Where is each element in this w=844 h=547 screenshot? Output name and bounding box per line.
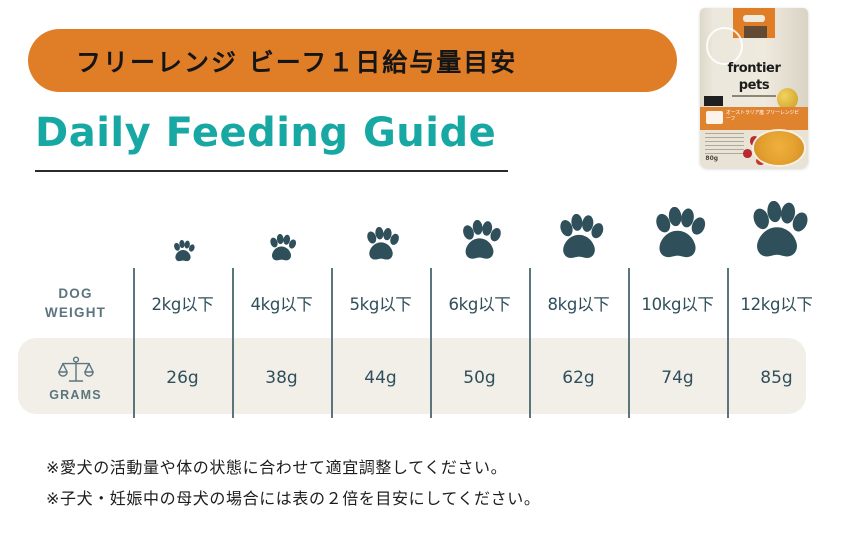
paw-cell-1 (133, 192, 232, 266)
grams-value-5: 62g (529, 340, 628, 416)
package-product-name: オーストラリア産 フリーレンジビーフ (726, 110, 804, 122)
weight-value-7: 12kg以下 (727, 266, 826, 340)
title-divider (35, 170, 508, 172)
package-ingredient-lines (705, 133, 744, 157)
footnotes: ※愛犬の活動量や体の状態に合わせて適宜調整してください。 ※子犬・妊娠中の母犬の… (46, 452, 540, 514)
table-column-4: 6kg以下 50g (430, 192, 529, 432)
dog-weight-label: DOG WEIGHT (18, 266, 133, 340)
product-package-image: frontier pets オーストラリア産 フリーレンジビーフ 80g (700, 8, 808, 168)
paw-icon (265, 234, 298, 264)
weight-value-1: 2kg以下 (133, 266, 232, 340)
package-hang-hole (743, 15, 765, 21)
scale-icon (58, 355, 94, 385)
footnote-2: ※子犬・妊娠中の母犬の場合には表の２倍を目安にしてください。 (46, 483, 540, 514)
table-column-6: 10kg以下 74g (628, 192, 727, 432)
package-black-tab (704, 96, 722, 106)
table-column-2: 4kg以下 38g (232, 192, 331, 432)
weight-value-5: 8kg以下 (529, 266, 628, 340)
package-badge (744, 26, 767, 37)
dog-weight-line2: WEIGHT (45, 303, 106, 322)
weight-value-2: 4kg以下 (232, 266, 331, 340)
package-net-weight: 80g (705, 155, 718, 162)
label-spacer (18, 192, 133, 266)
footnote-1: ※愛犬の活動量や体の状態に合わせて適宜調整してください。 (46, 452, 540, 483)
dog-silhouette-icon (706, 111, 722, 124)
paw-icon (552, 214, 606, 264)
grams-label-text: GRAMS (49, 388, 102, 402)
package-roundel-icon (706, 27, 742, 65)
grams-label-cell: GRAMS (18, 340, 133, 416)
page-title: Daily Feeding Guide (35, 110, 496, 156)
package-brand-line1: frontier (709, 61, 800, 76)
table-column-5: 8kg以下 62g (529, 192, 628, 432)
weight-value-6: 10kg以下 (628, 266, 727, 340)
table-column-7: 12kg以下 85g (727, 192, 826, 432)
table-column-1: 2kg以下 26g (133, 192, 232, 432)
package-body: frontier pets オーストラリア産 フリーレンジビーフ 80g (700, 8, 808, 168)
food-bowl-image (754, 131, 804, 165)
paw-cell-5 (529, 192, 628, 266)
banner-title: フリーレンジ ビーフ１日給与量目安 (76, 43, 517, 79)
title-banner: フリーレンジ ビーフ１日給与量目安 (28, 29, 677, 92)
paw-icon (361, 227, 401, 264)
paw-cell-3 (331, 192, 430, 266)
paw-icon (743, 201, 811, 264)
paw-cell-6 (628, 192, 727, 266)
grams-value-2: 38g (232, 340, 331, 416)
weight-value-3: 5kg以下 (331, 266, 430, 340)
feeding-table: DOG WEIGHT GRAMS (18, 192, 826, 432)
grams-value-1: 26g (133, 340, 232, 416)
paw-cell-2 (232, 192, 331, 266)
paw-icon (170, 240, 196, 264)
grams-value-7: 85g (727, 340, 826, 416)
weight-value-4: 6kg以下 (430, 266, 529, 340)
table-column-3: 5kg以下 44g (331, 192, 430, 432)
paw-icon (647, 207, 708, 264)
dog-weight-line1: DOG (58, 284, 92, 303)
paw-icon (456, 220, 503, 264)
table-label-column: DOG WEIGHT GRAMS (18, 192, 133, 432)
table-columns: DOG WEIGHT GRAMS (18, 192, 826, 432)
paw-cell-7 (727, 192, 826, 266)
grams-value-3: 44g (331, 340, 430, 416)
grams-value-4: 50g (430, 340, 529, 416)
grams-value-6: 74g (628, 340, 727, 416)
paw-cell-4 (430, 192, 529, 266)
package-tagline-rule (732, 95, 775, 97)
berry-icon (743, 149, 752, 158)
